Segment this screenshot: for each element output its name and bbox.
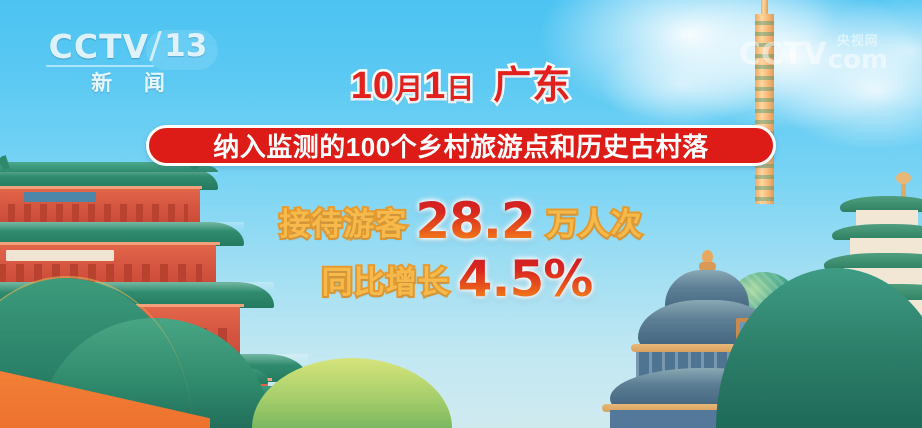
logo-cctv-text: CCTV <box>49 27 150 66</box>
headline-date-region: 10月1日广东 <box>0 64 922 111</box>
news-graphic-stage: CCTV 13 新 闻 CCTV 央视网 com 10月1日广东 纳入监测的10… <box>0 0 922 428</box>
stat-value-visitors: 28.2 <box>415 196 534 246</box>
stat-line-growth: 同比增长4.5% <box>0 254 922 304</box>
headline-day: 1 <box>424 65 446 107</box>
stat-unit-visitors: 万人次 <box>547 199 643 244</box>
stat-value-growth: 4.5% <box>458 254 593 304</box>
headline-region: 广东 <box>493 65 571 107</box>
stat-line-visitors: 接待游客28.2万人次 <box>0 196 922 246</box>
headline-month-unit: 月 <box>395 73 424 104</box>
banner-text: 纳入监测的100个乡村旅游点和历史古村落 <box>213 127 708 164</box>
stat-label-visitors: 接待游客 <box>279 199 407 244</box>
headline-day-unit: 日 <box>446 73 475 104</box>
headline-text: 10月1日广东 <box>351 64 571 111</box>
stat-label-growth: 同比增长 <box>322 257 450 302</box>
headline-month: 10 <box>351 65 395 107</box>
red-banner: 纳入监测的100个乡村旅游点和历史古村落 <box>146 125 776 166</box>
